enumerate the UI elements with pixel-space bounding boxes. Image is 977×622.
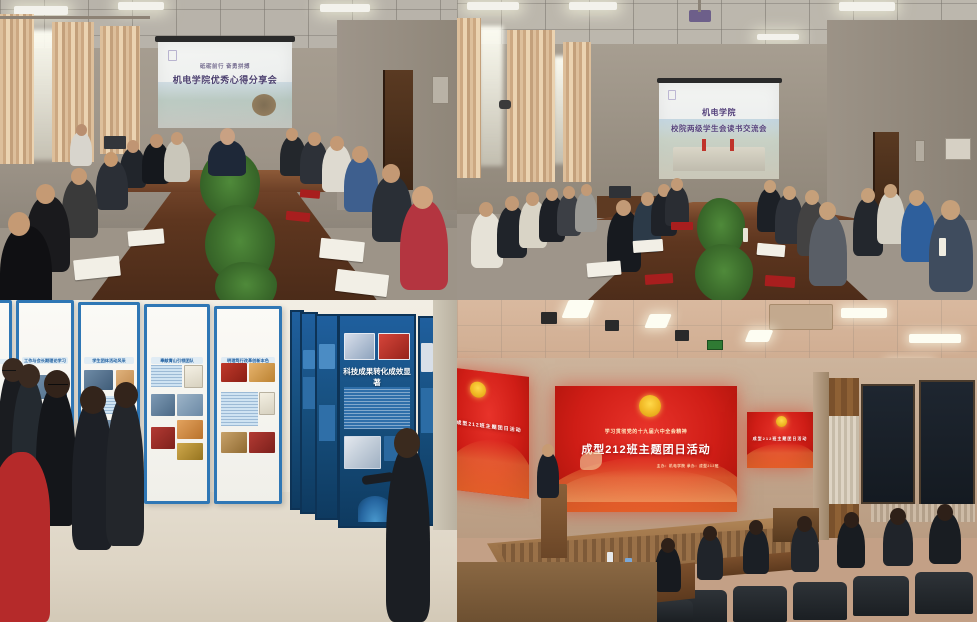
attendee-head [286,128,298,141]
attendee-head [505,196,519,211]
visitor [106,396,144,546]
curtain-left [0,14,34,164]
panel-photo [259,392,275,415]
panel-heading: 工作与会长期理论学习 [22,357,68,364]
visitor-glasses-icon [48,384,68,387]
side-banner-title: 成型212班主题团日活动 [457,419,527,435]
slide-subtitle: 砥砺前行 奋勇拼搏 [158,62,292,70]
curtain-middle [507,30,555,182]
attendee-head [819,202,836,220]
panel-photo [319,344,335,368]
panel-heading: 奉献青山引领团队 [151,357,204,364]
panel-text [151,365,182,386]
photo-bottom-left[interactable]: 工作与会长期理论学习 学生团体活动风采 奉献青山引领团队 明理笃行改革创新本色 [0,300,457,622]
visitor-glasses-icon [2,370,16,373]
curtain-right [100,26,140,154]
aisle-floor [457,562,657,622]
ceiling-lamp [569,2,617,10]
panel-photo [177,443,203,460]
audience-head [890,508,906,525]
attendee-head [941,200,960,220]
red-booklet [300,189,321,199]
attendee-head [352,146,368,163]
audience-head [703,526,717,541]
led-banner-footer: 主办：机电学院 承办：成型212班 [650,464,726,469]
panel-photo [177,394,203,415]
ceiling-lamp [757,34,799,40]
audience-seat [733,586,787,622]
attendee-head [884,184,897,198]
panel-photo [421,343,432,372]
presenter-head [220,128,235,145]
audience-head [937,504,953,521]
attendee-head [150,134,163,148]
auditorium-window [861,384,915,504]
auditorium-window [919,380,975,506]
slide-title: 机电学院 [659,107,779,118]
led-wave-graphic [457,433,529,499]
attendee-head [76,124,87,136]
attendee-head [171,132,183,145]
league-emblem-icon [639,395,661,417]
panel-photo [221,432,247,453]
panel-text [319,405,335,441]
speaker-head [542,444,554,457]
attendee [70,132,92,166]
side-banner-subtitle [457,407,526,420]
audience-seat [915,572,973,614]
audience-seat [853,576,909,616]
panel-text [303,377,314,409]
main-led-banner: 学习贯彻党的十九届六中全会精神 成型212班主题团日活动 主办：机电学院 承办：… [555,386,737,512]
attendee [0,226,52,300]
slide-flag-icon [730,139,734,151]
tour-guide-head [394,428,420,458]
hall-right-wall [433,300,457,530]
attendee [575,192,597,232]
exhibition-panel[interactable]: 明理笃行改革创新本色 [214,306,282,504]
wall-panel-box [432,76,449,104]
document-on-table [757,243,786,257]
attendee-head [526,192,539,206]
slide-decor-circle [252,94,276,116]
panel-photo [303,350,314,370]
attendee-head [330,136,344,151]
attendee-head [909,190,924,206]
audience-head [844,512,859,528]
attendee-head [563,186,575,199]
blue-panel-heading: 科技成果转化成效显著 [343,366,411,388]
curtain-blind [829,416,859,504]
track-spotlight [541,312,557,324]
attendee-head [764,180,776,193]
panel-photo [249,432,275,453]
laptop [609,186,631,198]
ceiling-lamp [839,2,895,11]
league-emblem-icon [470,381,486,399]
side-banner-title: 成型212班主题团日活动 [748,436,811,442]
exhibition-panel-blue[interactable] [315,314,339,520]
curtain-left [457,18,481,178]
attendee-head [805,190,819,205]
photo-collage: 砥砺前行 奋勇拼搏 机电学院优秀心得分享会 [0,0,977,622]
audience-head [797,516,812,532]
attendee-head [104,152,118,167]
wall-camera-icon [499,100,511,109]
ceiling-lamp [467,2,519,10]
attendee-head [671,178,683,191]
attendee-head [412,186,433,209]
side-led-banner-right: 成型212班主题团日活动 [747,412,813,468]
led-wave-graphic [747,443,813,468]
slide-seal-icon [168,50,177,61]
attendee-head [127,140,139,153]
window-light [479,26,503,166]
visitor-head [114,382,138,408]
panel-photo [344,333,375,360]
exhibition-panel[interactable]: 奉献青山引领团队 [144,304,210,504]
panel-text [421,388,432,433]
visitor-red-coat [0,452,50,622]
radiator [871,504,975,522]
curtain-right [563,42,591,182]
red-booklet [765,275,796,288]
ceiling-light [841,308,887,318]
water-bottle [939,238,946,256]
panel-photo [249,363,275,382]
laptop [104,136,126,149]
attendee-head [71,168,87,185]
projection-screen: 砥砺前行 奋勇拼搏 机电学院优秀心得分享会 [158,42,292,128]
attendee-head [382,164,400,183]
panel-photo [344,436,381,470]
right-wall [827,20,977,220]
slide-building-graphic [673,147,764,171]
attendee-head [36,184,55,204]
track-spotlight [605,320,619,331]
attendee [96,160,128,210]
document-on-table [586,261,621,278]
panel-heading: 学生团体活动风采 [84,357,133,364]
attendee-head [861,188,875,203]
panel-photo [151,427,175,448]
audience-head [661,538,675,553]
water-bottle [743,228,748,242]
ceiling-light [745,330,774,342]
photo-top-left[interactable]: 砥砺前行 奋勇拼搏 机电学院优秀心得分享会 [0,0,457,300]
presenter [208,140,246,176]
slide-flag-icon [702,139,706,151]
panel-photo [151,394,175,415]
speaker [537,452,559,498]
wall-notice-board [945,138,971,160]
attendee [929,212,973,292]
projector-mount [698,0,701,12]
panel-text [344,387,409,429]
attendee [809,214,847,286]
attendee-head [479,202,493,217]
panel-photo [184,365,203,388]
attendee [400,200,448,290]
attendee-head [308,132,321,146]
slide-seal-icon [668,90,676,100]
ac-vent [769,304,833,330]
attendee [665,186,689,226]
slide-subtitle: 校院两级学生会读书交流会 [659,123,779,134]
table-plant [695,244,753,300]
panel-photo [378,333,410,360]
league-emblem-icon [776,416,787,427]
attendee-head [546,188,558,201]
side-led-banner-left: 成型212班主题团日活动 [457,367,529,499]
panel-heading [318,381,336,386]
photo-top-right[interactable]: 机电学院 校院两级学生会读书交流会 [457,0,977,300]
wall-panel-box [915,140,925,162]
attendee-head [581,184,592,196]
led-figure-graphic [580,452,602,470]
curtain-rail [0,16,150,19]
slide-title: 机电学院优秀心得分享会 [158,73,292,86]
panel-text [221,392,258,427]
photo-bottom-right[interactable]: 成型212班主题团日活动 学习贯彻党的十九届六中全会精神 成型212班主题团日活… [457,300,977,622]
document-on-table [633,239,664,253]
attendee [164,140,190,182]
document-on-table [127,228,164,246]
panel-photo [177,420,203,439]
attendee-head [616,200,631,216]
ceiling-light [909,334,961,343]
audience-seat [793,582,847,620]
red-booklet [671,222,693,230]
visitor-head [18,364,40,388]
visitor-head [80,386,106,414]
audience-head [749,520,763,535]
red-booklet [645,273,674,285]
track-spotlight [675,330,689,341]
attendee-head [783,186,796,200]
ceiling-lamp [118,2,164,10]
panel-photo [221,363,247,382]
exit-sign [707,340,723,350]
attendee-head [8,212,30,236]
projection-screen: 机电学院 校院两级学生会读书交流会 [659,83,779,179]
led-banner-subtitle: 学习贯彻党的十九届六中全会精神 [562,428,729,435]
ceiling-lamp [320,4,370,12]
